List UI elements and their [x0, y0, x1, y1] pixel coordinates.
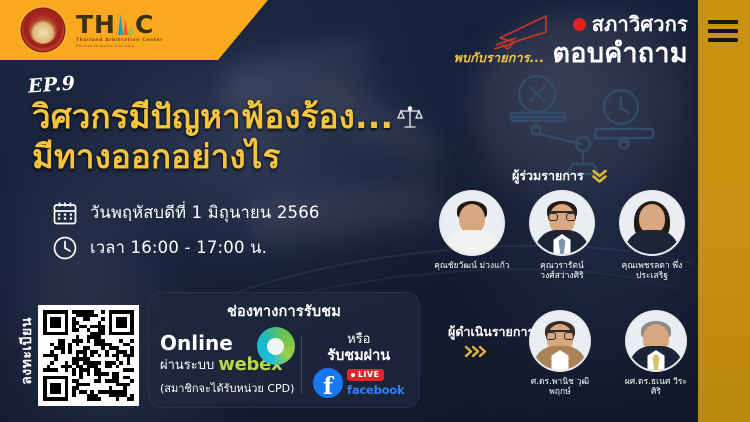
avatar	[621, 192, 683, 254]
episode-label: EP.9	[27, 72, 76, 97]
watch-channels-card: ช่องทางการรับชม Online ผ่านระบบ webex (ส…	[148, 292, 420, 408]
facebook-word: facebook	[347, 383, 404, 397]
thac-subtitle-2: Resolve Disputes Amicably	[76, 45, 163, 48]
program-branding: สภาวิศวกร พบกับรายการ... ตอบคำถาม	[454, 8, 688, 68]
watch-channels-title: ช่องทางการรับชม	[148, 292, 420, 323]
moderator-name: ผศ.ดร.ธเนศ วีระศิริ	[620, 376, 692, 396]
thac-logo: TH C Thailand Arbitration Center Resolve…	[76, 12, 163, 48]
thac-wordmark-head: TH	[76, 12, 116, 37]
thac-wordmark: TH C	[76, 12, 163, 37]
panelist-name: คุณวรารัตน์ วงศ์สว่างศิริ	[524, 260, 600, 280]
program-meet-text: พบกับรายการ...	[454, 48, 545, 68]
title-line-1-text: วิศวกรมีปัญหาฟ้องร้อง...	[32, 97, 393, 137]
moderator-name: ศ.ดร.พานิช วุฒิพฤกษ์	[524, 376, 596, 396]
moderators-row: ศ.ดร.พานิช วุฒิพฤกษ์ ผศ.ดร.ธเนศ วีระศิริ	[524, 312, 692, 396]
avatar-glasses	[546, 330, 574, 338]
right-gold-rail	[698, 0, 750, 422]
panelist-name: คุณชัยวัฒน์ ม่วงแก้ว	[434, 260, 510, 270]
avatar	[627, 312, 685, 370]
watch-online-block: Online ผ่านระบบ webex (สมาชิกจะได้รับหน่…	[156, 333, 301, 397]
facebook-icon[interactable]: f	[313, 368, 343, 398]
panelists-row: คุณชัยวัฒน์ ม่วงแก้ว คุณวรารัตน์ วงศ์สว่…	[434, 192, 690, 280]
register-label: ลงทะเบียน	[16, 317, 38, 385]
panelist-3: คุณเพชรลดา พึ่งประเสริฐ	[614, 192, 690, 280]
program-name-line1: สภาวิศวกร	[592, 8, 688, 40]
live-badge-text: LIVE	[358, 370, 379, 379]
chevron-down-icon	[591, 168, 608, 184]
schedule-time-text: เวลา 16:00 - 17:00 น.	[90, 235, 267, 261]
live-badge: LIVE	[347, 369, 384, 381]
panelist-1: คุณชัยวัฒน์ ม่วงแก้ว	[434, 192, 510, 280]
panelist-name: คุณเพชรลดา พึ่งประเสริฐ	[614, 260, 690, 280]
title-line-2: มีทางออกอย่างไร	[32, 137, 423, 177]
moderator-2: ผศ.ดร.ธเนศ วีระศิริ	[620, 312, 692, 396]
clock-icon	[52, 235, 78, 261]
avatar	[441, 192, 503, 254]
title-line-2-text: มีทางออกอย่างไร	[32, 137, 281, 177]
or-word: หรือ	[306, 332, 412, 348]
schedule-time-row: เวลา 16:00 - 17:00 น.	[52, 235, 320, 261]
qr-code[interactable]	[38, 305, 139, 406]
panelist-2: คุณวรารัตน์ วงศ์สว่างศิริ	[524, 192, 600, 280]
watch-via-text: รับชมผ่าน	[306, 348, 412, 365]
moderators-heading: ผู้ดำเนินรายการ	[448, 322, 534, 358]
top-left-banner: TH C Thailand Arbitration Center Resolve…	[0, 0, 268, 60]
cpd-note: (สมาชิกจะได้รับหน่วย CPD)	[160, 379, 301, 397]
moderator-1: ศ.ดร.พานิช วุฒิพฤกษ์	[524, 312, 596, 396]
schedule-date-row: วันพฤหัสบดีที่ 1 มิถุนายน 2566	[52, 200, 320, 226]
panelists-heading-text: ผู้ร่วมรายการ	[512, 166, 584, 186]
moderators-heading-text: ผู้ดำเนินรายการ	[448, 322, 534, 342]
council-seal-emblem-icon	[22, 9, 64, 51]
event-poster: TH C Thailand Arbitration Center Resolve…	[0, 0, 750, 422]
thac-subtitle: Thailand Arbitration Center	[76, 39, 163, 43]
title-line-1: วิศวกรมีปัญหาฟ้องร้อง...	[32, 97, 423, 137]
avatar-glasses	[548, 211, 576, 219]
balance-scales-line-art-icon	[503, 72, 688, 180]
calendar-icon	[52, 200, 78, 226]
avatar-body	[445, 230, 499, 254]
thac-a-mark-icon	[117, 14, 134, 35]
panelists-heading: ผู้ร่วมรายการ	[512, 166, 608, 186]
schedule-date-text: วันพฤหัสบดีที่ 1 มิถุนายน 2566	[90, 200, 320, 226]
online-via-word: ผ่านระบบ	[160, 354, 214, 375]
red-dot-icon	[573, 18, 586, 31]
page-title: วิศวกรมีปัญหาฟ้องร้อง... มีทางออกอย่างไร	[32, 97, 423, 178]
webex-logo-icon	[257, 327, 295, 365]
program-name-line2: ตอบคำถาม	[552, 40, 688, 68]
scales-of-justice-icon	[397, 104, 423, 130]
avatar	[531, 312, 589, 370]
chevron-right-icon	[464, 345, 488, 358]
hamburger-menu-icon[interactable]	[708, 20, 738, 42]
watch-facebook-block: หรือ รับชมผ่าน f LIVE facebook	[302, 332, 412, 397]
schedule-block: วันพฤหัสบดีที่ 1 มิถุนายน 2566 เวลา 16:0…	[52, 200, 320, 270]
thac-wordmark-tail: C	[135, 12, 154, 37]
avatar-body	[625, 230, 679, 254]
avatar	[531, 192, 593, 254]
